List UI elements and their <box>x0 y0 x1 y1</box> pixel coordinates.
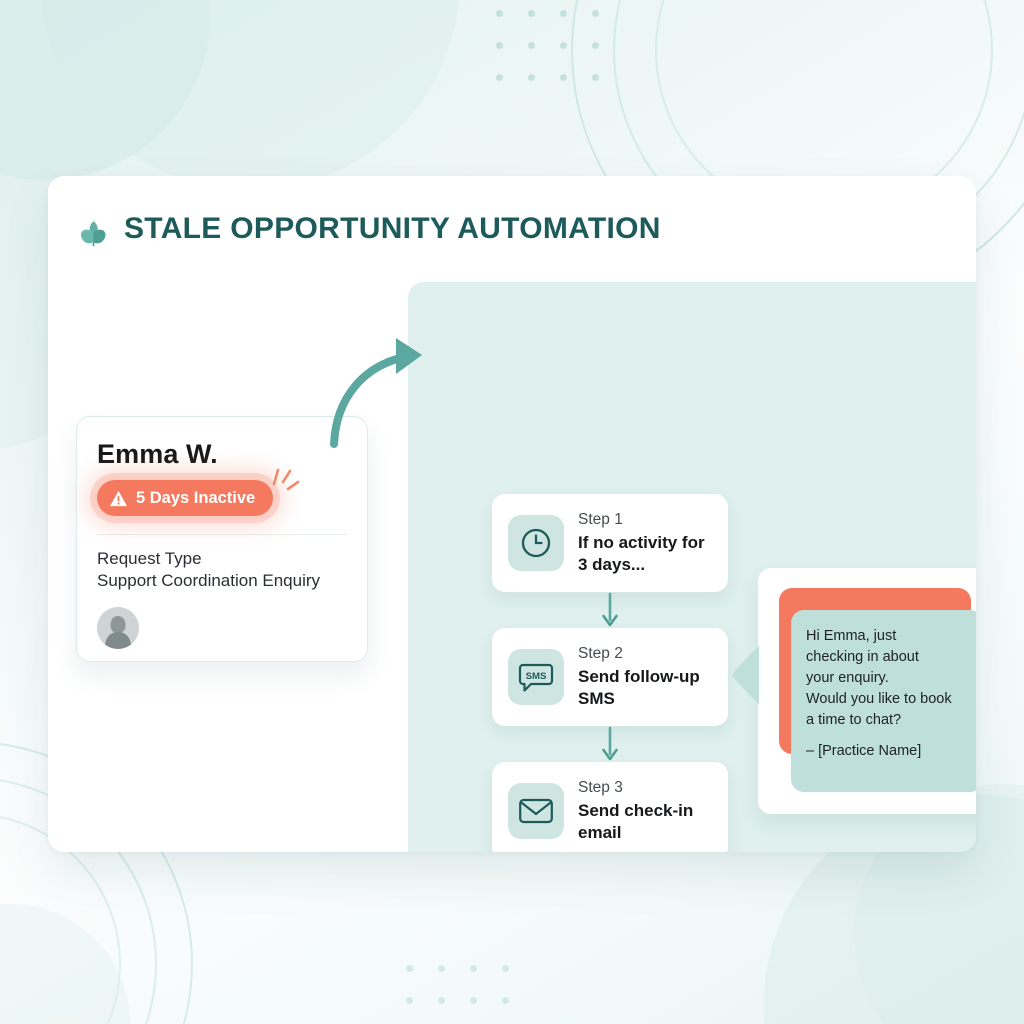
status-badge-wrapper: 5 Days Inactive <box>97 480 273 516</box>
request-type-label: Request Type <box>97 549 347 569</box>
dot <box>528 42 535 49</box>
step-3-icon-container <box>508 783 564 839</box>
spark-lines-icon <box>265 462 305 502</box>
step-1-text: Step 1 If no activity for 3 days... <box>578 510 712 576</box>
step-card-3[interactable]: Step 3 Send check-in email <box>492 762 728 852</box>
sms-bubble-front: Hi Emma, just checking in about your enq… <box>791 610 976 792</box>
sms-bubble-tail-icon <box>812 762 840 788</box>
warning-triangle-icon <box>109 489 128 508</box>
sms-line: Hi Emma, just <box>806 626 968 647</box>
sms-chat-bubble-icon: SMS <box>518 660 554 694</box>
dot <box>406 965 413 972</box>
sms-line: checking in about <box>806 647 968 668</box>
clock-icon <box>519 526 553 560</box>
dot <box>528 74 535 81</box>
dot <box>502 997 509 1004</box>
dot <box>470 997 477 1004</box>
step-3-label: Step 3 <box>578 778 712 797</box>
page-title: STALE OPPORTUNITY AUTOMATION <box>124 212 661 246</box>
sms-signature: – [Practice Name] <box>806 743 968 759</box>
svg-text:SMS: SMS <box>526 671 547 682</box>
step-2-label: Step 2 <box>578 644 712 663</box>
card-divider <box>97 534 347 535</box>
sms-preview-card[interactable]: Hi Emma, just checking in about your enq… <box>758 568 976 814</box>
dot <box>438 997 445 1004</box>
sms-line: Would you like to book <box>806 689 968 710</box>
sms-line: a time to chat? <box>806 710 968 731</box>
dot <box>496 10 503 17</box>
step-1-icon-container <box>508 515 564 571</box>
canvas: STALE OPPORTUNITY AUTOMATION Step 1 If n… <box>0 0 1024 1024</box>
step-2-title: Send follow-up SMS <box>578 666 712 710</box>
dot <box>592 42 599 49</box>
dot <box>560 74 567 81</box>
user-avatar-placeholder-icon <box>97 607 139 649</box>
avatar <box>97 607 139 649</box>
request-type-value: Support Coordination Enquiry <box>97 571 347 591</box>
callout-pointer-left-icon <box>732 646 759 704</box>
step-card-2[interactable]: SMS Step 2 Send follow-up SMS <box>492 628 728 726</box>
step-3-text: Step 3 Send check-in email <box>578 778 712 844</box>
dot <box>406 997 413 1004</box>
decorative-dot-grid-bottom <box>406 965 509 1004</box>
envelope-icon <box>518 796 554 826</box>
dot <box>438 965 445 972</box>
dot <box>496 74 503 81</box>
step-2-icon-container: SMS <box>508 649 564 705</box>
step-2-text: Step 2 Send follow-up SMS <box>578 644 712 710</box>
dot <box>560 10 567 17</box>
dot <box>496 42 503 49</box>
arrow-down-icon <box>600 726 620 764</box>
dot <box>470 965 477 972</box>
dot <box>528 10 535 17</box>
dot <box>592 74 599 81</box>
lead-name: Emma W. <box>97 439 347 470</box>
dot <box>592 10 599 17</box>
step-3-title: Send check-in email <box>578 800 712 844</box>
arrow-down-icon <box>600 592 620 630</box>
lead-card[interactable]: Emma W. 5 Days Inactive Request Type Sup… <box>76 416 368 662</box>
panel-header: STALE OPPORTUNITY AUTOMATION <box>48 176 976 282</box>
dot <box>560 42 567 49</box>
step-1-label: Step 1 <box>578 510 712 529</box>
leaf-plant-icon <box>76 214 110 248</box>
decorative-dot-grid-top <box>496 10 599 81</box>
status-badge[interactable]: 5 Days Inactive <box>97 480 273 516</box>
step-card-1[interactable]: Step 1 If no activity for 3 days... <box>492 494 728 592</box>
dot <box>502 965 509 972</box>
background-blob <box>40 0 460 190</box>
background-blob <box>0 0 210 180</box>
step-1-title: If no activity for 3 days... <box>578 532 712 576</box>
sms-line: your enquiry. <box>806 668 968 689</box>
background-blob <box>0 904 130 1024</box>
status-badge-label: 5 Days Inactive <box>136 489 255 508</box>
